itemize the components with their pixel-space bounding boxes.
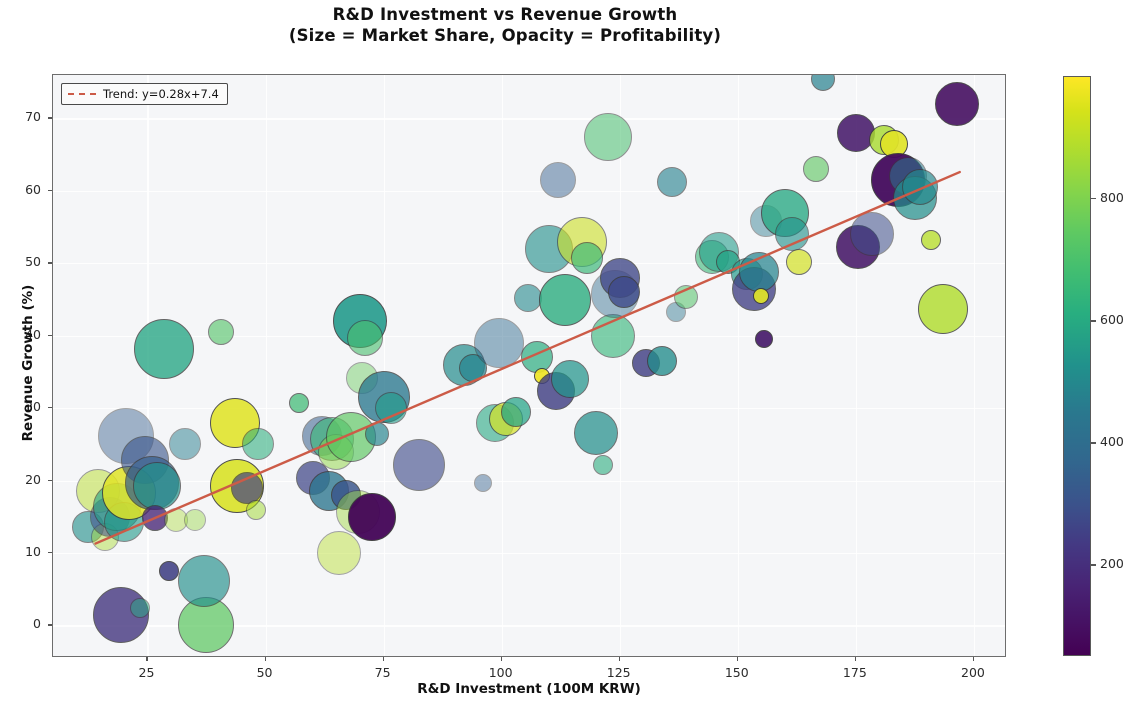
scatter-point[interactable] — [514, 284, 542, 312]
colorbar-tick-label: 800 — [1100, 190, 1124, 205]
gridline-vertical — [266, 75, 267, 656]
colorbar-tick-mark — [1091, 320, 1096, 321]
x-axis-label: R&D Investment (100M KRW) — [52, 681, 1006, 697]
scatter-point[interactable] — [231, 472, 263, 504]
x-tick-mark — [737, 657, 738, 661]
scatter-point[interactable] — [551, 360, 589, 398]
gridline-vertical — [738, 75, 739, 656]
scatter-point[interactable] — [850, 212, 894, 256]
scatter-point[interactable] — [539, 274, 591, 326]
y-tick-mark — [48, 262, 52, 263]
figure-canvas: R&D Investment vs Revenue Growth (Size =… — [0, 0, 1147, 706]
scatter-point[interactable] — [786, 249, 812, 275]
colorbar — [1063, 76, 1091, 656]
scatter-point[interactable] — [755, 330, 773, 348]
colorbar-tick-label: 600 — [1100, 312, 1124, 327]
scatter-point[interactable] — [647, 346, 677, 376]
y-tick-mark — [48, 335, 52, 336]
x-tick-label: 75 — [353, 665, 413, 680]
scatter-point[interactable] — [501, 397, 531, 427]
y-tick-mark — [48, 190, 52, 191]
x-tick-label: 200 — [943, 665, 1003, 680]
x-tick-label: 125 — [589, 665, 649, 680]
gridline-horizontal — [53, 481, 1005, 482]
colorbar-tick-label: 200 — [1100, 556, 1124, 571]
gridline-vertical — [974, 75, 975, 656]
y-tick-mark — [48, 480, 52, 481]
x-tick-mark — [146, 657, 147, 661]
scatter-point[interactable] — [540, 162, 576, 198]
scatter-point[interactable] — [178, 555, 230, 607]
scatter-point[interactable] — [584, 113, 632, 161]
scatter-point[interactable] — [242, 428, 274, 460]
colorbar-tick-label: 400 — [1100, 434, 1124, 449]
x-tick-mark — [501, 657, 502, 661]
y-tick-label: 0 — [1, 616, 41, 631]
y-tick-mark — [48, 407, 52, 408]
gridline-vertical — [856, 75, 857, 656]
x-tick-mark — [383, 657, 384, 661]
scatter-point[interactable] — [739, 252, 779, 292]
gridline-horizontal — [53, 553, 1005, 554]
scatter-point[interactable] — [674, 285, 698, 309]
scatter-point[interactable] — [393, 439, 445, 491]
scatter-point[interactable] — [811, 74, 835, 91]
colorbar-gradient — [1064, 77, 1090, 655]
scatter-point[interactable] — [365, 422, 389, 446]
x-tick-mark — [973, 657, 974, 661]
x-tick-mark — [265, 657, 266, 661]
y-tick-mark — [48, 624, 52, 625]
colorbar-tick-mark — [1091, 198, 1096, 199]
colorbar-tick-mark — [1091, 442, 1096, 443]
chart-legend[interactable]: Trend: y=0.28x+7.4 — [61, 83, 228, 105]
scatter-point[interactable] — [918, 284, 968, 334]
gridline-horizontal — [53, 191, 1005, 192]
scatter-point[interactable] — [474, 474, 492, 492]
gridline-horizontal — [53, 336, 1005, 337]
scatter-point[interactable] — [246, 500, 266, 520]
x-tick-label: 50 — [235, 665, 295, 680]
x-tick-label: 100 — [471, 665, 531, 680]
chart-title: R&D Investment vs Revenue Growth (Size =… — [0, 4, 1010, 47]
scatter-point[interactable] — [375, 392, 407, 424]
legend-label: Trend: y=0.28x+7.4 — [103, 87, 219, 101]
scatter-point[interactable] — [134, 319, 194, 379]
scatter-point[interactable] — [574, 411, 618, 455]
y-tick-label: 10 — [1, 544, 41, 559]
colorbar-tick-mark — [1091, 564, 1096, 565]
x-tick-mark — [619, 657, 620, 661]
x-tick-label: 175 — [825, 665, 885, 680]
chart-title-line1: R&D Investment vs Revenue Growth — [333, 5, 678, 24]
x-tick-label: 150 — [707, 665, 767, 680]
scatter-point[interactable] — [348, 493, 396, 541]
gridline-vertical — [620, 75, 621, 656]
x-tick-mark — [855, 657, 856, 661]
scatter-point[interactable] — [775, 217, 809, 251]
x-tick-label: 25 — [116, 665, 176, 680]
scatter-point[interactable] — [289, 393, 309, 413]
gridline-vertical — [384, 75, 385, 656]
trend-line-swatch — [68, 93, 96, 95]
scatter-point[interactable] — [902, 169, 938, 205]
scatter-point[interactable] — [474, 318, 524, 368]
scatter-point[interactable] — [159, 561, 179, 581]
plot-area: Trend: y=0.28x+7.4 — [52, 74, 1006, 657]
y-tick-mark — [48, 552, 52, 553]
y-tick-mark — [48, 117, 52, 118]
scatter-point[interactable] — [317, 531, 361, 575]
y-axis-label: Revenue Growth (%) — [20, 243, 36, 483]
scatter-point[interactable] — [133, 462, 181, 510]
scatter-point[interactable] — [571, 242, 603, 274]
scatter-point[interactable] — [184, 509, 206, 531]
scatter-point[interactable] — [803, 156, 829, 182]
scatter-point[interactable] — [921, 230, 941, 250]
scatter-point[interactable] — [208, 319, 234, 345]
scatter-point[interactable] — [169, 428, 201, 460]
y-tick-label: 60 — [1, 182, 41, 197]
scatter-point[interactable] — [347, 320, 383, 356]
chart-title-line2: (Size = Market Share, Opacity = Profitab… — [0, 25, 1010, 46]
scatter-point[interactable] — [837, 114, 875, 152]
scatter-point[interactable] — [591, 314, 635, 358]
y-tick-label: 70 — [1, 109, 41, 124]
scatter-point[interactable] — [657, 167, 687, 197]
scatter-point[interactable] — [593, 455, 613, 475]
